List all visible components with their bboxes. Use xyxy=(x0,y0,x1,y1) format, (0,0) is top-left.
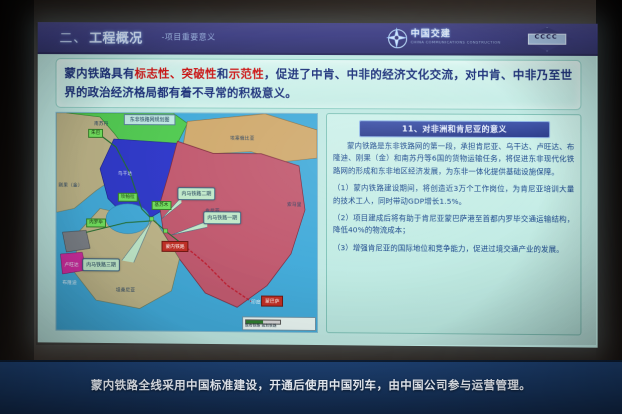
panel-paragraph-3: （3）增强肯尼亚的国际地位和竞争能力，促进过境交通产业的发展。 xyxy=(333,242,574,256)
panel-heading-text: 11、对非洲和肯尼亚的意义 xyxy=(360,121,549,137)
panel-paragraph-0: 蒙内铁路是东非铁路网的第一段，承担肯尼亚、乌干达、卢旺达、布隆迪、刚果（金）和南… xyxy=(333,140,574,179)
header-section-number: 二、 xyxy=(59,27,87,46)
map-label-congo: 刚果（金） xyxy=(58,182,82,188)
map-label-somalia: 索马里 xyxy=(287,202,302,208)
map-label-uganda: 乌干达 xyxy=(118,171,133,177)
east-africa-railway-map: 东非铁路网规划图 南苏丹 埃塞俄比亚 乌干达 肯尼亚 索马里 坦桑尼亚 卢旺达 … xyxy=(56,112,318,333)
logo-text-block: 中国交建 CHINA COMMUNICATIONS CONSTRUCTION xyxy=(411,30,501,45)
slide-header-bar: 二、 工程概况 -项目重要意义 中国交建 CHINA COMMUNICATION… xyxy=(38,22,598,56)
map-title: 东非铁路网规划图 xyxy=(124,114,176,125)
banner-text: 蒙内铁路具有标志性、突破性和示范性，促进了中肯、中非的经济文化交流，对中肯、中非… xyxy=(56,59,580,104)
significance-panel: 11、对非洲和肯尼亚的意义 蒙内铁路是东非铁路网的第一段，承担肯尼亚、乌干达、卢… xyxy=(326,113,581,335)
map-label-ethiopia: 埃塞俄比亚 xyxy=(230,136,254,142)
panel-body: 蒙内铁路是东非铁路网的第一段，承担肯尼亚、乌干达、卢旺达、布隆迪、刚果（金）和南… xyxy=(333,140,574,261)
legend-label: 既有铁路 规划铁路 xyxy=(245,323,277,328)
caption-top-edge xyxy=(0,360,622,362)
header-title: 工程概况 xyxy=(89,27,143,46)
map-marker-mombasa: 蒙巴萨 xyxy=(261,296,283,307)
wall-shadow-left xyxy=(0,0,34,360)
badge-label: CCCC xyxy=(529,33,563,41)
summary-banner: 蒙内铁路具有标志性、突破性和示范性，促进了中肯、中非的经济文化交流，对中肯、中非… xyxy=(56,58,582,110)
map-label-tanzania: 坦桑尼亚 xyxy=(116,287,135,293)
banner-text-mid: 和 xyxy=(217,67,229,81)
compass-star-glyph xyxy=(386,27,407,48)
header-subtitle: -项目重要意义 xyxy=(162,32,216,43)
panel-paragraph-1: （1）蒙内铁路建设期间，将创造近3万个工作岗位，为肯尼亚培训大量的技术工人，同时… xyxy=(333,182,574,208)
map-label-south-sudan: 南苏丹 xyxy=(94,121,109,127)
map-label-rwanda: 卢旺达 xyxy=(64,262,79,268)
map-label-burundi: 布隆迪 xyxy=(62,280,77,286)
logo-company-cn: 中国交建 xyxy=(411,30,501,39)
projected-slide: 二、 工程概况 -项目重要意义 中国交建 CHINA COMMUNICATION… xyxy=(38,22,598,347)
map-tag-juba: 朱巴 xyxy=(88,129,103,138)
map-tag-nairobi: 内罗毕 xyxy=(86,218,106,227)
panel-paragraph-2: （2）项目建成后将有助于肯尼亚蒙巴萨港至首都内罗毕交通运输结构，降低40%的物流… xyxy=(333,212,574,239)
caption-text: 蒙内铁路全线采用中国标准建设，开通后使用中国列车，由中国公司参与运营管理。 xyxy=(0,377,622,393)
map-tag-kampala: 坎帕拉 xyxy=(118,193,138,202)
panel-heading-bar: 11、对非洲和肯尼亚的意义 xyxy=(359,120,550,138)
diamond-badge-icon: CCCC xyxy=(513,27,580,50)
compass-star-icon xyxy=(386,27,407,48)
logo-company-en: CHINA COMMUNICATIONS CONSTRUCTION xyxy=(411,41,501,45)
screenshot-root: 二、 工程概况 -项目重要意义 中国交建 CHINA COMMUNICATION… xyxy=(0,0,622,414)
map-tag-kisumu: 基苏木 xyxy=(152,201,172,210)
map-callout-nairobi-malaba-phase3: 内马铁路三期 xyxy=(82,258,120,271)
wall-shadow-right xyxy=(596,0,622,360)
map-callout-nairobi-malaba-phase2: 内马铁路二期 xyxy=(177,187,215,200)
banner-emphasis-2: 示范性 xyxy=(229,67,264,81)
banner-emphasis-1: 标志性、突破性 xyxy=(135,66,217,80)
map-legend: 既有铁路 规划铁路 xyxy=(242,316,316,331)
map-marker-mombasa-nairobi-railway: 蒙内铁路 xyxy=(162,241,189,252)
map-callout-nairobi-malaba-phase1: 内马铁路一期 xyxy=(203,211,241,224)
company-logo: 中国交建 CHINA COMMUNICATIONS CONSTRUCTION xyxy=(386,27,501,48)
banner-text-1: 蒙内铁路具有 xyxy=(64,66,134,80)
bottom-caption-bar: 蒙内铁路全线采用中国标准建设，开通后使用中国列车，由中国公司参与运营管理。 xyxy=(0,360,622,414)
